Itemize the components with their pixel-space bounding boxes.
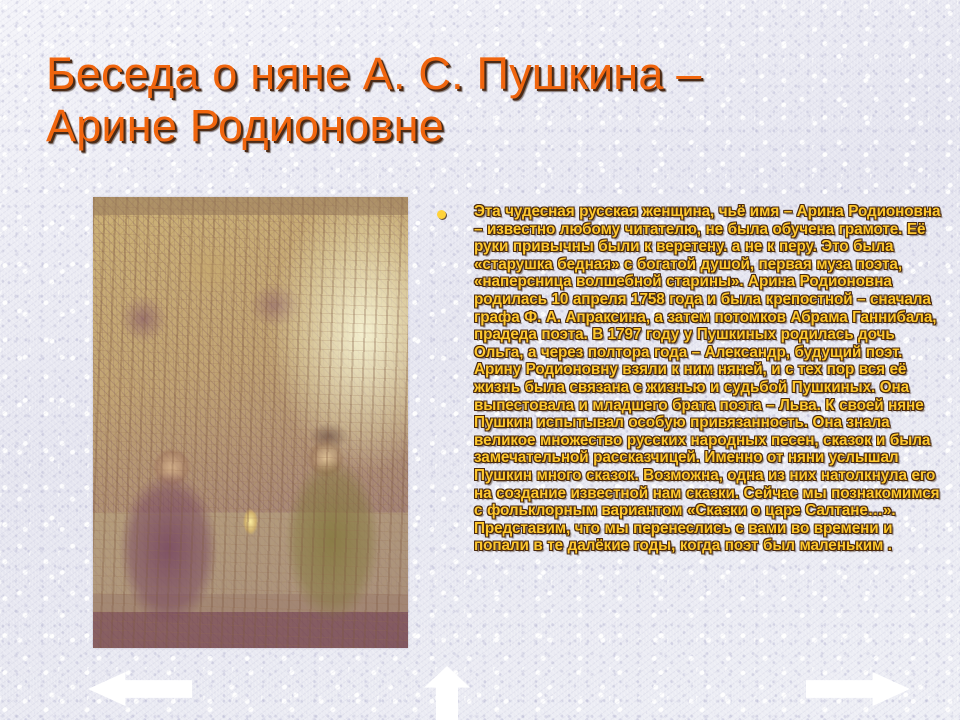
presentation-slide: Беседа о няне А. С. Пушкина – Арине Роди…: [0, 0, 960, 720]
next-slide-arrow-icon[interactable]: [806, 672, 910, 706]
illustration-frame: [93, 197, 408, 648]
illustration-painting: [93, 197, 408, 648]
home-slide-arrow-icon[interactable]: [424, 666, 470, 720]
bullet-list-item: Эта чудесная русская женщина, чьё имя – …: [437, 203, 942, 555]
body-paragraph: Эта чудесная русская женщина, чьё имя – …: [474, 203, 942, 555]
page-title: Беседа о няне А. С. Пушкина – Арине Роди…: [46, 48, 946, 152]
bullet-point-icon: [437, 210, 446, 219]
previous-slide-arrow-icon[interactable]: [88, 672, 192, 706]
content-body: Эта чудесная русская женщина, чьё имя – …: [437, 203, 942, 555]
